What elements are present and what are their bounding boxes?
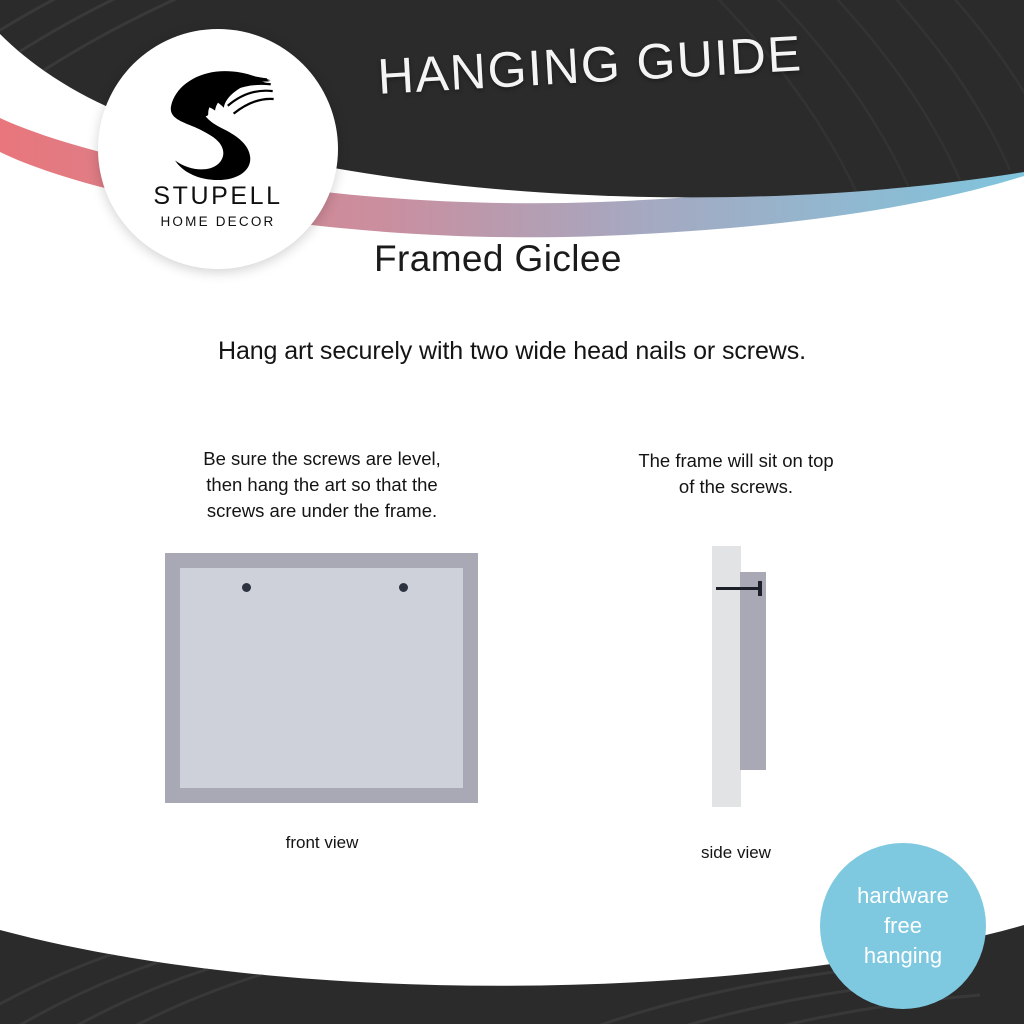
front-caption-line-1: Be sure the screws are level, xyxy=(152,446,492,472)
side-view-caption: The frame will sit on top of the screws. xyxy=(605,448,867,500)
side-view-label: side view xyxy=(620,843,852,863)
side-caption-line-2: of the screws. xyxy=(605,474,867,500)
badge-line-1: hardware xyxy=(857,881,949,911)
product-type-title: Framed Giclee xyxy=(374,238,622,280)
side-view-diagram xyxy=(700,540,820,825)
front-view-art-panel xyxy=(180,568,463,788)
front-view-diagram xyxy=(165,553,478,803)
nail-head-icon xyxy=(758,581,762,596)
side-view-frame xyxy=(740,572,766,770)
nail-shaft-icon xyxy=(716,587,762,590)
hardware-free-hanging-badge: hardware free hanging xyxy=(820,843,986,1009)
page-title: HANGING GUIDE xyxy=(376,24,804,106)
screw-dot-right-icon xyxy=(399,583,408,592)
front-caption-line-2: then hang the art so that the xyxy=(152,472,492,498)
front-view-label: front view xyxy=(152,833,492,853)
badge-line-2: free xyxy=(884,911,922,941)
badge-line-3: hanging xyxy=(864,941,942,971)
front-caption-line-3: screws are under the frame. xyxy=(152,498,492,524)
stupell-swoosh-logo-icon xyxy=(159,55,277,180)
brand-logo-badge: STUPELL HOME DECOR xyxy=(98,29,338,269)
side-view-wall xyxy=(712,546,741,807)
brand-name: STUPELL xyxy=(153,182,282,211)
hanging-guide-page: HANGING GUIDE STUPELL HOME DECOR Framed … xyxy=(0,0,1024,1024)
main-instruction-text: Hang art securely with two wide head nai… xyxy=(0,337,1024,366)
side-caption-line-1: The frame will sit on top xyxy=(605,448,867,474)
front-view-caption: Be sure the screws are level, then hang … xyxy=(152,446,492,524)
screw-dot-left-icon xyxy=(242,583,251,592)
brand-tagline: HOME DECOR xyxy=(160,214,275,229)
